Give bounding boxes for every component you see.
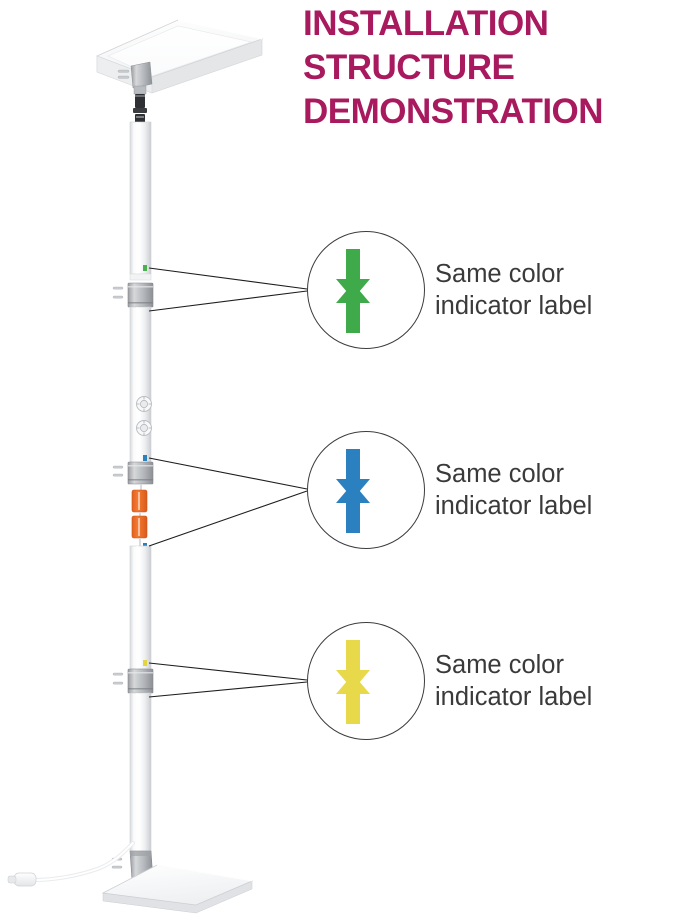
callout-green-arrows bbox=[325, 245, 381, 337]
arrow-up-icon bbox=[336, 283, 370, 333]
callout-yellow-label-line2: indicator label bbox=[435, 681, 592, 713]
leader-blue-lower bbox=[149, 491, 307, 546]
callout-blue-arrows bbox=[325, 445, 381, 537]
callout-blue-label-line1: Same color bbox=[435, 458, 592, 490]
leader-green-upper bbox=[149, 268, 307, 289]
callout-green-label-line2: indicator label bbox=[435, 290, 592, 322]
callout-blue: Same color indicator label bbox=[307, 431, 667, 551]
callout-green: Same color indicator label bbox=[307, 231, 667, 351]
leader-blue-upper bbox=[149, 458, 307, 489]
arrow-up-icon bbox=[336, 674, 370, 724]
callout-blue-label-line2: indicator label bbox=[435, 490, 592, 522]
callout-yellow-label: Same color indicator label bbox=[435, 649, 592, 713]
arrow-up-icon bbox=[336, 483, 370, 533]
leader-yellow-upper bbox=[149, 663, 307, 680]
callout-yellow-arrows bbox=[325, 636, 381, 728]
callout-green-label-line1: Same color bbox=[435, 258, 592, 290]
leader-yellow-lower bbox=[149, 682, 307, 697]
leader-green-lower bbox=[149, 291, 307, 311]
callout-blue-label: Same color indicator label bbox=[435, 458, 592, 522]
callout-yellow: Same color indicator label bbox=[307, 622, 667, 742]
callout-yellow-label-line1: Same color bbox=[435, 649, 592, 681]
illustration-canvas: INSTALLATION STRUCTURE DEMONSTRATION bbox=[0, 0, 679, 918]
callout-green-label: Same color indicator label bbox=[435, 258, 592, 322]
